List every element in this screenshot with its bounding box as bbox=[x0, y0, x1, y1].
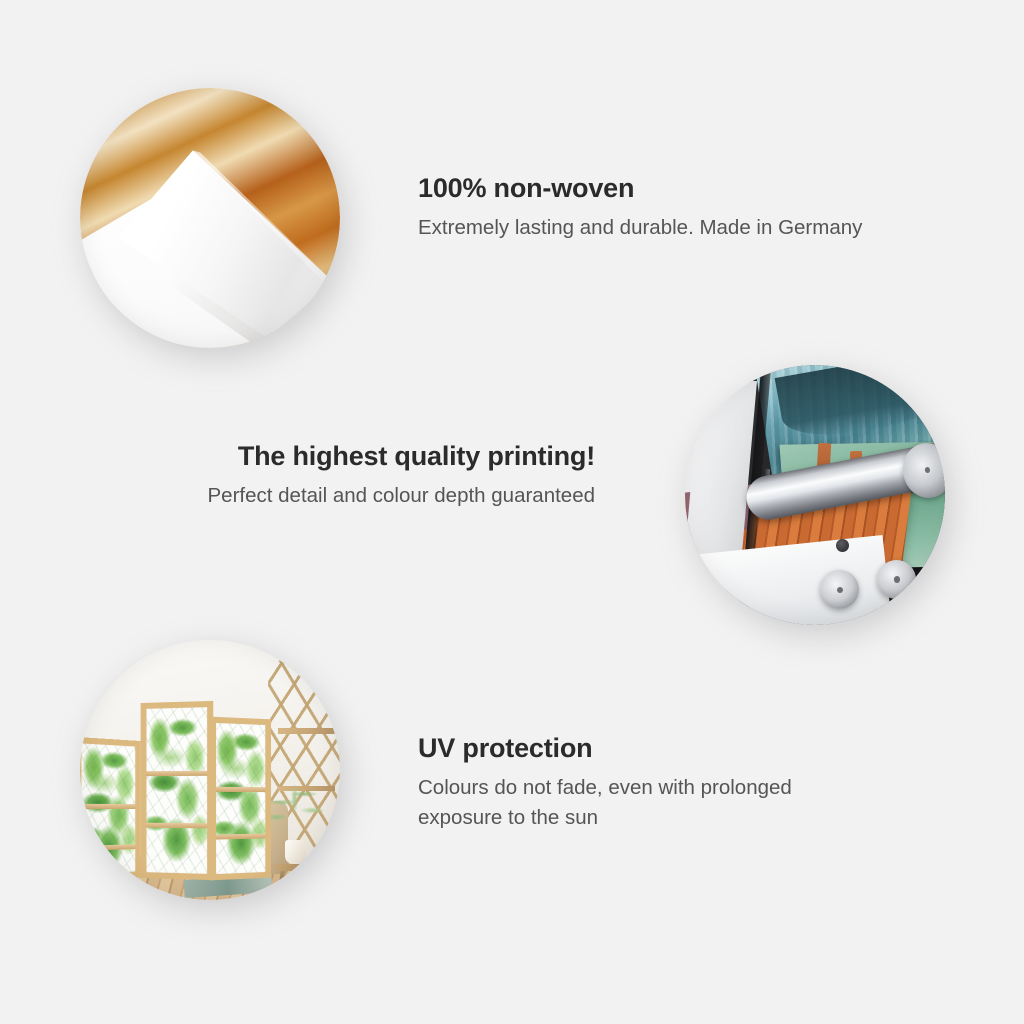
leaf-vein-texture bbox=[216, 723, 266, 874]
panel-crossbar bbox=[146, 771, 206, 776]
badge-image-clip bbox=[80, 88, 340, 348]
wallpaper-illustration bbox=[80, 88, 340, 348]
badge-image-clip bbox=[80, 640, 340, 900]
wooden-stool-top bbox=[275, 864, 317, 872]
printing-press-illustration bbox=[685, 365, 945, 625]
feature-title: The highest quality printing! bbox=[140, 441, 595, 472]
room-divider-illustration bbox=[80, 640, 340, 900]
feature-description: Colours do not fade, even with prolonged… bbox=[418, 773, 848, 833]
feature-text-non-woven: 100% non-woven Extremely lasting and dur… bbox=[418, 173, 888, 243]
plant-pot bbox=[285, 840, 306, 863]
leaf-vein-texture bbox=[146, 708, 206, 874]
feature-text-quality-printing: The highest quality printing! Perfect de… bbox=[140, 441, 595, 511]
palm-plant bbox=[262, 775, 330, 843]
press-knob bbox=[836, 539, 849, 552]
feature-description: Perfect detail and colour depth guarante… bbox=[140, 481, 595, 511]
divider-panel-left bbox=[80, 737, 140, 882]
feature-description: Extremely lasting and durable. Made in G… bbox=[418, 213, 888, 243]
feature-text-uv-protection: UV protection Colours do not fade, even … bbox=[418, 733, 848, 833]
lattice-shelf-board-upper bbox=[278, 728, 335, 733]
divider-panel-center bbox=[140, 701, 212, 880]
panel-crossbar bbox=[216, 787, 266, 792]
infographic-stage: 100% non-woven Extremely lasting and dur… bbox=[0, 0, 1024, 1024]
printing-press-photo bbox=[685, 365, 945, 625]
divider-panel-right bbox=[210, 717, 271, 881]
peeling-wallpaper-photo bbox=[80, 88, 340, 348]
room-divider-photo bbox=[80, 640, 340, 900]
feature-title: 100% non-woven bbox=[418, 173, 888, 204]
feature-title: UV protection bbox=[418, 733, 848, 764]
badge-image-clip bbox=[685, 365, 945, 625]
panel-crossbar bbox=[81, 804, 134, 809]
